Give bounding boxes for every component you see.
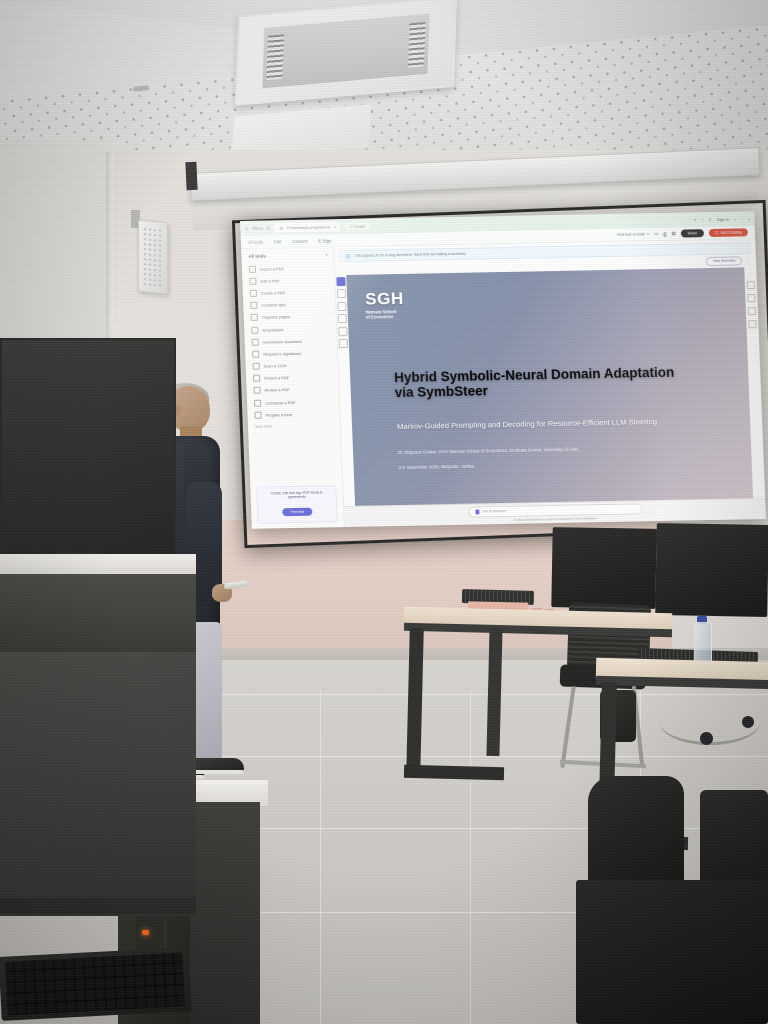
chair-caster-one: [700, 732, 713, 745]
rotate-tool-icon[interactable]: [747, 294, 755, 302]
free-trial-button[interactable]: Free trial: [282, 508, 312, 517]
summarize-icon: [252, 338, 259, 345]
nav-back-icon[interactable]: [244, 226, 248, 230]
sidebar-item-label: Export a PDF: [260, 266, 284, 271]
page-tool-icon[interactable]: [338, 327, 347, 336]
ac-vent-right-icon: [408, 22, 425, 68]
get-desktop-button[interactable]: ◱ Get it Desktop: [709, 229, 748, 237]
create-icon: [250, 290, 257, 297]
sidebar-item-label: Prepare a form: [265, 412, 292, 418]
highlight-tool-icon[interactable]: [337, 302, 346, 311]
ask-ai-input[interactable]: Ask AI Assistant: [468, 503, 642, 517]
compress-icon: [254, 399, 261, 406]
sidebar-collapse-icon[interactable]: ‹: [326, 252, 328, 257]
tabstrip-right-group: ? ◔ ⇪ Sign In − ▫ ×: [694, 216, 751, 222]
pan-tool-icon[interactable]: [747, 281, 755, 289]
speaker-grille-icon: [143, 227, 163, 287]
pdf-slide-page[interactable]: SGH Warsaw School of Economics Hybrid Sy…: [346, 267, 753, 506]
nav-label: Menu: [252, 226, 263, 231]
combine-icon: [250, 302, 257, 309]
monitor-background-left: [0, 338, 176, 558]
slide-title: Hybrid Symbolic-Neural Domain Adaptation…: [394, 364, 695, 401]
document-column: This appears to be a long document. Save…: [334, 239, 766, 527]
acrobat-body: All tools ‹ Export a PDF Edit a PDF Crea…: [241, 239, 766, 529]
edit-icon: [249, 278, 256, 285]
home-icon[interactable]: [267, 226, 271, 230]
sidebar-item-label: AI Assistant: [262, 327, 283, 332]
protect-icon: [253, 375, 260, 382]
sidebar-item-label: Combine files: [261, 302, 285, 307]
print-icon[interactable]: ⎙: [663, 231, 667, 236]
help-icon[interactable]: ?: [694, 217, 696, 222]
ai-disclaimer-text: AI-using AI Assistant you agree to Gener…: [514, 516, 597, 522]
search-input[interactable]: Find text or tools ⌕: [617, 232, 649, 237]
presenter-shoe-right-sole: [188, 770, 244, 774]
power-led-indicator: [142, 930, 149, 935]
select-tool-icon[interactable]: [336, 277, 345, 286]
window-maximize-button[interactable]: ▫: [742, 216, 744, 221]
sidebar-view-more-link[interactable]: View more: [248, 420, 340, 432]
tab-close-icon[interactable]: ×: [333, 224, 336, 229]
monitor-desk1: [551, 527, 656, 609]
comment-tool-icon[interactable]: [338, 314, 347, 323]
ac-vent-left-icon: [267, 34, 284, 80]
copy-tool-icon[interactable]: [748, 320, 756, 328]
window-close-button[interactable]: ×: [748, 216, 751, 221]
ai-summary-banner-text: This appears to be a long document. Save…: [354, 252, 466, 258]
monitor-foreground-left: [0, 652, 196, 916]
get-desktop-label: Get it Desktop: [720, 230, 742, 234]
redact-icon: [253, 387, 260, 394]
ai-sparkle-icon: [345, 253, 350, 258]
monitor-desk2: [655, 523, 768, 617]
search-placeholder: Find text or tools: [617, 232, 645, 237]
sidebar-item-label: Summarize document: [263, 339, 302, 345]
document-viewport: SGH Warsaw School of Economics Hybrid Sy…: [335, 267, 765, 506]
upload-icon[interactable]: ⇪: [708, 217, 712, 222]
signin-button[interactable]: Sign In: [717, 217, 730, 222]
screen-housing-end-cap: [185, 162, 197, 190]
save-icon[interactable]: ▭: [654, 231, 658, 237]
new-summary-button[interactable]: New Summary: [706, 256, 743, 265]
keyboard-foreground: [0, 947, 192, 1021]
promo-text: Create, edit and sign PDF forms & agreem…: [261, 490, 331, 501]
browser-tab-title: Prezentacja-programa.ic: [287, 224, 331, 230]
window-minimize-button[interactable]: −: [734, 217, 737, 222]
tab-favicon-icon: [280, 226, 284, 230]
wall-speaker: [138, 219, 168, 294]
bell-icon[interactable]: ◔: [701, 217, 704, 222]
menu-item-all-tools[interactable]: All tools: [248, 239, 263, 244]
sidebar-item-label: Create a PDF: [261, 290, 286, 295]
projected-acrobat-window[interactable]: Menu Prezentacja-programa.ic × + Create …: [240, 211, 766, 529]
menu-item-edit[interactable]: Edit: [274, 239, 282, 244]
menu-item-convert[interactable]: Convert: [292, 238, 307, 243]
person-tool-icon[interactable]: [339, 339, 348, 348]
sidebar-item-label: Protect a PDF: [264, 375, 289, 380]
monitor-foreground-right: [576, 880, 768, 1024]
presenter-clicker: [224, 580, 249, 589]
page-thumb-tool-icon[interactable]: [748, 307, 756, 315]
scan-icon: [253, 363, 260, 370]
keyboard-keys-icon: [5, 952, 186, 1015]
chair-caster-two: [742, 716, 754, 728]
more-icon[interactable]: ▤: [671, 231, 675, 237]
zoom-tool-icon[interactable]: [337, 289, 346, 298]
browser-tab-active[interactable]: Prezentacja-programa.ic ×: [275, 222, 341, 232]
menu-item-esign[interactable]: E-Sign: [318, 238, 331, 243]
sidebar-item-label: Edit a PDF: [260, 278, 280, 283]
signature-icon: [252, 351, 259, 358]
monitor-foreground-bezel: [0, 898, 196, 914]
ai-assistant-icon: [475, 509, 480, 514]
sidebar-title: All tools: [248, 254, 266, 259]
desk-one-foot: [404, 765, 504, 780]
form-icon: [254, 411, 261, 418]
share-button[interactable]: Share: [680, 230, 704, 238]
lecture-room-photo: Menu Prezentacja-programa.ic × + Create …: [0, 0, 768, 1024]
ask-ai-placeholder: Ask AI Assistant: [482, 509, 506, 513]
promo-card[interactable]: Create, edit and sign PDF forms & agreem…: [256, 485, 337, 524]
sidebar-item-label: Redact a PDF: [265, 388, 290, 393]
sidebar-item-label: Request e-signatures: [263, 351, 301, 357]
menubar-right-group: Find text or tools ⌕ ▭ ⎙ ▤ Share ◱ Get i…: [617, 229, 748, 239]
export-icon: [249, 265, 256, 272]
new-tab-button[interactable]: + Create: [345, 223, 371, 230]
sidebar-item-label: Organize pages: [262, 314, 290, 320]
search-icon[interactable]: ⌕: [647, 232, 649, 236]
sidebar-item-label: Scan & OCR: [264, 363, 287, 368]
organize-icon: [251, 314, 258, 321]
overflow-icon[interactable]: ⋯: [746, 259, 750, 263]
all-tools-sidebar[interactable]: All tools ‹ Export a PDF Edit a PDF Crea…: [241, 247, 345, 529]
ai-icon: [251, 326, 258, 333]
desktop-icon: ◱: [715, 231, 718, 235]
sidebar-item-label: Compress a PDF: [265, 400, 296, 406]
ac-grille: [261, 12, 431, 89]
